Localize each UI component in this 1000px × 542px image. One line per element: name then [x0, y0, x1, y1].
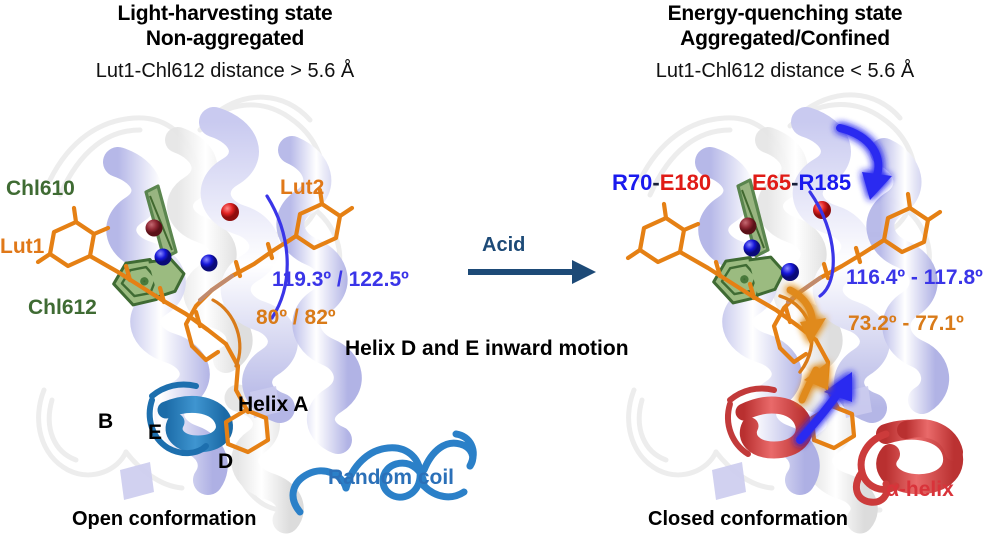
- left-carotenoid-highlight: [200, 276, 232, 300]
- salt-bridge-1-residue-1: R70: [612, 170, 652, 195]
- left-panel-title-line1: Light-harvesting state: [60, 2, 390, 26]
- reaction-label-acid: Acid: [482, 234, 525, 257]
- label-helix-d: D: [218, 450, 233, 474]
- salt-bridge-1: R70-E180: [612, 170, 711, 196]
- left-angle-orange: 80º / 82º: [256, 306, 336, 330]
- left-orange-angle-arc: [213, 300, 240, 366]
- right-blue-angle-arc: [810, 192, 833, 296]
- label-alpha-helix: α-helix: [886, 478, 954, 502]
- label-helix-a: Helix A: [238, 393, 308, 417]
- label-helix-b: B: [98, 410, 113, 434]
- left-panel-caption: Open conformation: [72, 508, 256, 531]
- right-panel-title-line2: Aggregated/Confined: [620, 27, 950, 51]
- label-random-coil: Random coil: [328, 466, 454, 490]
- salt-bridge-2: E65-R185: [752, 170, 851, 196]
- right-chlorophylls: [709, 180, 789, 309]
- label-helix-e: E: [148, 421, 162, 445]
- right-orange-motion-arrow-lower: [802, 362, 828, 400]
- label-chl612: Chl612: [28, 296, 97, 320]
- left-chlorophylls: [109, 186, 189, 311]
- right-carotenoid-highlight: [788, 278, 820, 302]
- right-panel-caption: Closed conformation: [648, 508, 848, 531]
- label-lut2: Lut2: [280, 176, 324, 200]
- salt-bridge-1-residue-2: E180: [660, 170, 711, 195]
- right-spheres: [740, 201, 832, 281]
- left-blue-angle-arc: [267, 196, 287, 318]
- right-orange-motion-arrow-upper: [790, 290, 826, 344]
- right-angle-orange: 73.2º - 77.1º: [848, 312, 964, 336]
- label-chl610: Chl610: [6, 177, 75, 201]
- right-panel-distance-note: Lut1-Chl612 distance < 5.6 Å: [596, 60, 974, 83]
- right-orange-angle-arc: [780, 296, 812, 372]
- left-angle-blue: 119.3º / 122.5º: [272, 268, 409, 292]
- left-spheres: [146, 203, 240, 272]
- right-panel-title-line1: Energy-quenching state: [620, 2, 950, 26]
- right-inner-alpha-helix: [728, 388, 804, 454]
- left-panel-distance-note: Lut1-Chl612 distance > 5.6 Å: [36, 60, 414, 83]
- label-lut1: Lut1: [0, 235, 44, 259]
- right-motion-arrow-bottom: [800, 372, 852, 440]
- figure-root: Light-harvesting state Non-aggregated Lu…: [0, 0, 1000, 542]
- salt-bridge-2-residue-1: E65: [752, 170, 791, 195]
- salt-bridge-2-residue-2: R185: [798, 170, 851, 195]
- left-helices-white: [178, 140, 290, 520]
- right-angle-blue: 116.4º - 117.8º: [846, 266, 983, 290]
- left-panel-title-line2: Non-aggregated: [60, 27, 390, 51]
- right-arrow-icon: [468, 260, 596, 284]
- salt-bridge-1-sep: -: [652, 170, 659, 195]
- motion-note: Helix D and E inward motion: [345, 337, 629, 361]
- right-loop-ribbons: [629, 95, 930, 510]
